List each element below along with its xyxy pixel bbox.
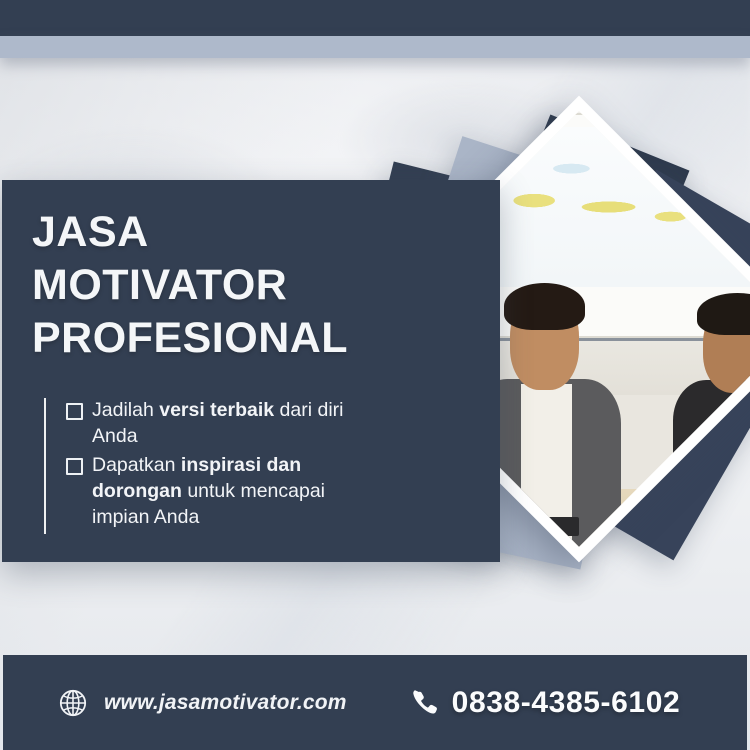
phone-contact[interactable]: 0838-4385-6102 bbox=[409, 686, 681, 720]
list-item: Dapatkan inspirasi dan dorongan untuk me… bbox=[66, 453, 360, 531]
photo-person-left-hair bbox=[504, 283, 585, 329]
headline-line-1: JASA bbox=[32, 206, 348, 259]
checkbox-outline-icon bbox=[66, 458, 83, 475]
benefit-emphasis: versi terbaik bbox=[159, 399, 274, 421]
benefits-block: Jadilah versi terbaik dari diri Anda Dap… bbox=[44, 398, 360, 534]
headline-line-2: MOTIVATOR bbox=[32, 259, 348, 312]
top-slate-band bbox=[0, 36, 750, 58]
vertical-divider bbox=[44, 398, 46, 534]
top-navy-band bbox=[0, 0, 750, 36]
phone-icon bbox=[409, 688, 439, 718]
globe-icon bbox=[58, 688, 88, 718]
checkbox-outline-icon bbox=[66, 403, 83, 420]
page-title: JASA MOTIVATOR PROFESIONAL bbox=[32, 206, 348, 365]
phone-label: 0838-4385-6102 bbox=[452, 686, 681, 720]
contact-footer: www.jasamotivator.com 0838-4385-6102 bbox=[3, 655, 747, 750]
promo-poster: JASA MOTIVATOR PROFESIONAL Jadilah versi… bbox=[0, 0, 750, 750]
list-item: Jadilah versi terbaik dari diri Anda bbox=[66, 398, 360, 450]
website-label: www.jasamotivator.com bbox=[104, 691, 347, 715]
headline-line-3: PROFESIONAL bbox=[32, 312, 348, 365]
benefit-text: Dapatkan inspirasi dan dorongan untuk me… bbox=[92, 453, 360, 531]
benefits-list: Jadilah versi terbaik dari diri Anda Dap… bbox=[66, 398, 360, 534]
benefit-prefix: Dapatkan bbox=[92, 454, 181, 476]
benefit-text: Jadilah versi terbaik dari diri Anda bbox=[92, 398, 360, 450]
website-contact[interactable]: www.jasamotivator.com bbox=[58, 688, 347, 718]
benefit-prefix: Jadilah bbox=[92, 399, 159, 421]
headline-panel: JASA MOTIVATOR PROFESIONAL Jadilah versi… bbox=[2, 180, 500, 562]
